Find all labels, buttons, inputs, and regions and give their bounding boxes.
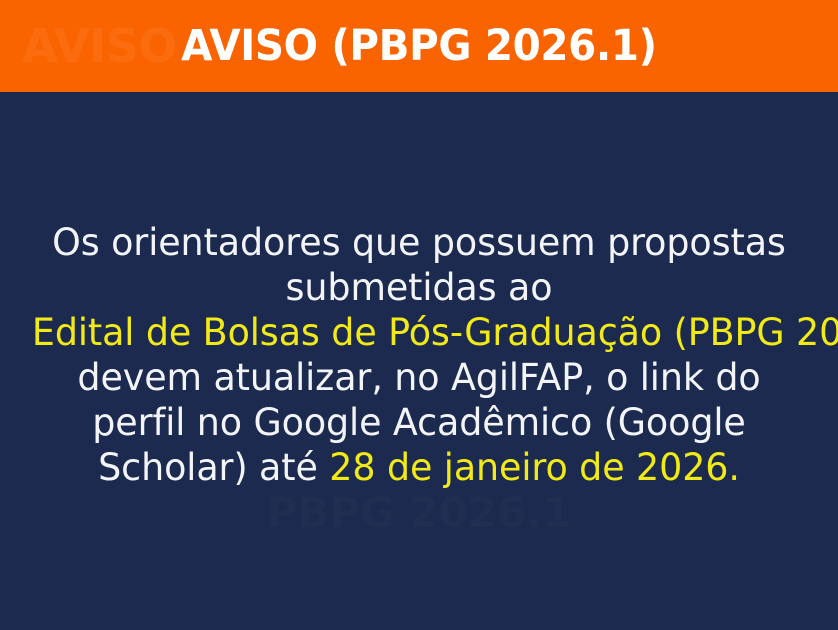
body-watermark-text: PBPG 2026.1 bbox=[0, 490, 838, 536]
notice-message: Os orientadores que possuem propostas su… bbox=[32, 220, 806, 490]
notice-card: AVISO AVISO (PBPG 2026.1) PBPG 2026.1 Os… bbox=[0, 0, 838, 630]
notice-message-highlight-edital: Edital de Bolsas de Pós-Graduação (PBPG … bbox=[32, 311, 838, 354]
notice-body: PBPG 2026.1 Os orientadores que possuem … bbox=[0, 92, 838, 630]
notice-message-highlight-deadline: 28 de janeiro de 2026. bbox=[329, 446, 740, 489]
notice-title: AVISO (PBPG 2026.1) bbox=[181, 25, 656, 68]
header-watermark-text: AVISO bbox=[22, 19, 177, 73]
notice-header: AVISO AVISO (PBPG 2026.1) bbox=[0, 0, 838, 92]
notice-message-segment-intro: Os orientadores que possuem propostas su… bbox=[52, 221, 786, 309]
